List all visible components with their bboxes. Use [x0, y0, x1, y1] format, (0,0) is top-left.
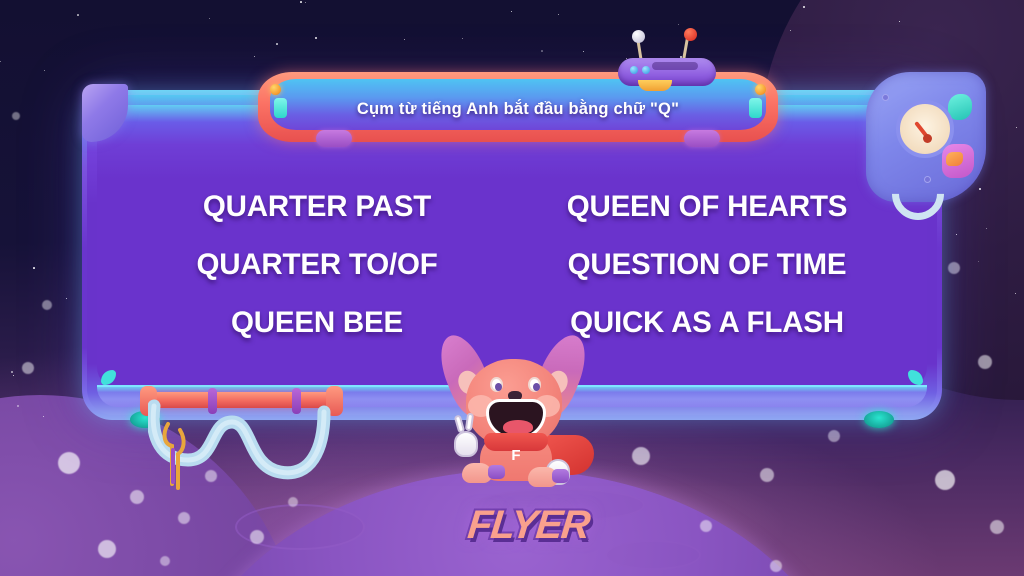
corner-light-bottom-right — [864, 411, 894, 428]
glove-left — [454, 431, 478, 457]
word-item: QUEEN OF HEARTS — [512, 181, 902, 233]
chest-logo-letter: F — [506, 445, 526, 467]
word-item: QUARTER PAST — [122, 181, 512, 233]
word-item: QUESTION OF TIME — [512, 239, 902, 291]
antenna-ball-red — [684, 28, 697, 41]
wire-gold — [160, 420, 200, 490]
word-list: QUARTER PAST QUEEN OF HEARTS QUARTER TO/… — [122, 180, 902, 350]
cuff-left — [488, 465, 505, 479]
eye-left — [490, 377, 503, 392]
word-item: QUARTER TO/OF — [122, 239, 512, 291]
cuff-right — [552, 469, 569, 483]
flyer-logo: FLYER — [466, 500, 590, 550]
flyer-logo-text: FLYER — [465, 503, 590, 548]
eye-right — [528, 377, 541, 392]
slide-stage: Cụm từ tiếng Anh bắt đầu bằng chữ "Q" — [0, 0, 1024, 576]
mascot-character: F — [428, 333, 600, 493]
antenna-ball-white — [632, 30, 645, 43]
robot-alien-icon — [612, 34, 722, 86]
gauge-teal-gem — [948, 94, 972, 120]
